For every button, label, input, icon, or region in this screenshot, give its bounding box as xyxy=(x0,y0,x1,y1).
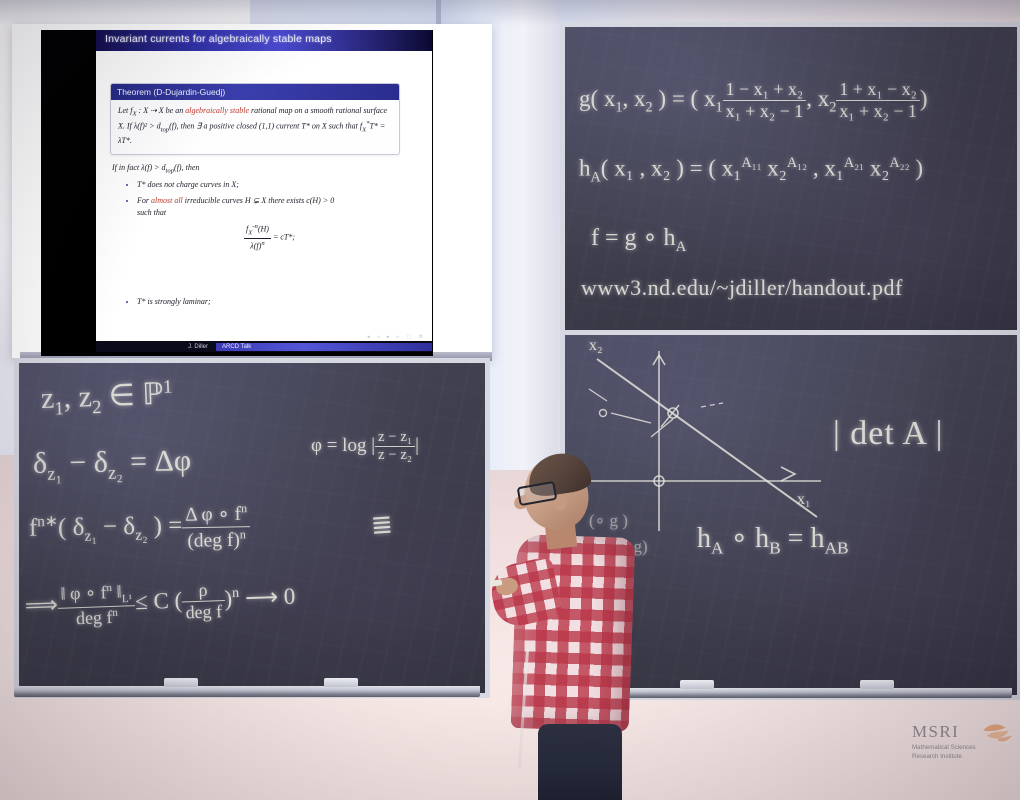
msri-tagline: Mathematical Sciences Research Institute xyxy=(912,744,1012,761)
chalk-l3-num: z − z₁ xyxy=(375,429,415,447)
chalk-r2-sup2: A₁₂ xyxy=(787,155,807,171)
chalk-l4-num-sup: n xyxy=(241,501,247,515)
chalk-comp-sub-c: AB xyxy=(824,539,848,558)
chalk-r1-t1sub: 1 xyxy=(715,99,722,115)
theorem-line1-c: rational map on a xyxy=(249,106,309,115)
chalk-l2-sub-a: z₁ xyxy=(47,463,62,484)
theorem-highlight: algebraically stable xyxy=(185,106,249,115)
theorem-line3-a: closed (1,1) current T* on X such that f xyxy=(236,122,362,131)
chalk-r1-close: ) xyxy=(920,86,928,111)
chalk-l4-c: − δ xyxy=(96,513,135,541)
msri-logo: MSRI Mathematical Sciences Research Inst… xyxy=(912,722,1012,778)
chalk-l3-fraction: z − z₁z − z₂ xyxy=(375,429,415,464)
theorem-line3-sub: X xyxy=(362,127,366,134)
chalk-l5-num-sub: L¹ xyxy=(122,593,133,605)
chalk-r1-comma: , x xyxy=(806,86,829,111)
chalk-comp-sub-b: B xyxy=(769,539,781,558)
tray-clip xyxy=(324,678,358,687)
chalk-l1-sup-c: 1 xyxy=(163,376,173,397)
chalk-l5-den-1: deg fn xyxy=(58,606,136,630)
theorem-line1-b: : X ⇢ X be an xyxy=(137,106,186,115)
slide-footer-talk: ARCD Talk xyxy=(216,343,432,351)
chalk-l4-sub-b: z₁ xyxy=(84,528,97,545)
slide-nav-icons[interactable]: ◂ ◃ ▸ ▹ ⬚ ⟳ xyxy=(367,334,426,340)
left-blackboard: z1, z2 ∈ ℙ1 δz₁ − δz₂ = Δφ φ = log |z − … xyxy=(14,358,490,698)
formula-rhs: = cT*; xyxy=(273,232,295,241)
chalk-r1-f1-num: 1 − x₁ + x₂ xyxy=(723,79,807,101)
condition-sub: top xyxy=(166,168,175,175)
chalk-l4-num-t: Δ φ ∘ f xyxy=(185,504,241,526)
chalk-l4-den-sup: n xyxy=(240,527,246,541)
chalk-r2-lhs: h xyxy=(579,156,591,181)
chalk-line-1: z1, z2 ∈ ℙ1 xyxy=(40,376,173,421)
chalk-l2-b: − δ xyxy=(62,446,109,480)
chalk-l2-a: δ xyxy=(33,447,48,480)
chalk-l4-fraction: Δ φ ∘ fn(deg f)n xyxy=(182,501,251,552)
chalk-right-line-2: hA( x₁ , x₂ ) = ( x₁A₁₁ x₂A₁₂ , x₁A₂₁ x₂… xyxy=(579,155,923,186)
lecture-scene: Invariant currents for algebraically sta… xyxy=(0,0,1020,800)
chalk-comp-h: h xyxy=(697,523,711,554)
chalk-l3-den: z − z₂ xyxy=(375,447,415,464)
butterfly-mark-icon xyxy=(980,720,1014,746)
chalk-r3-text: f = g ∘ h xyxy=(591,225,676,251)
chalk-right-line-3: f = g ∘ hA xyxy=(591,223,686,256)
slide-footer: J. Diller ARCD Talk xyxy=(96,341,432,352)
chalk-det-a: | det A | xyxy=(833,415,943,453)
chalk-r2-close: ) xyxy=(910,156,923,181)
chalk-l5-fraction-1: ‖ φ ∘ fn ‖L¹deg fn xyxy=(57,581,136,629)
chalk-l1-b: , z xyxy=(63,380,92,414)
bullet-2-text-c: such that xyxy=(137,207,402,219)
condition-line: If in fact λ(f) > dtop(f), then xyxy=(112,163,402,175)
theorem-header: Theorem (D-Dujardin-Guedj) xyxy=(111,84,399,100)
chalk-r3-sub: A xyxy=(676,239,687,255)
bullet-1-text: T* does not charge curves in X; xyxy=(137,180,239,189)
chalk-l1-c: ∈ ℙ xyxy=(101,378,164,413)
formula-num-arg: (H) xyxy=(258,225,269,234)
chalk-l5-a: ⟹ xyxy=(24,592,58,618)
bullet-item: T* does not charge curves in X; xyxy=(137,179,402,191)
condition-a: If in fact λ(f) > d xyxy=(112,163,166,172)
chalk-l4-num: Δ φ ∘ fn xyxy=(182,501,251,528)
bullet-list: T* does not charge curves in X; For almo… xyxy=(126,179,402,258)
chalk-r1-sub2: 2 xyxy=(646,99,653,115)
tray-clip xyxy=(860,680,894,689)
chalk-r1-lhs: g( x xyxy=(579,86,615,111)
bullet-2-highlight: almost all xyxy=(151,196,183,205)
chalk-l5-num-t: ‖ φ ∘ f xyxy=(60,582,107,604)
chalk-l3-a: φ = log | xyxy=(311,435,375,456)
chalk-handout-url: www3.nd.edu/~jdiller/handout.pdf xyxy=(581,275,903,301)
chalk-r1-fraction-2: 1 + x₁ − x₂x₁ + x₂ − 1 xyxy=(836,79,920,122)
chalk-line-3: φ = log |z − z₁z − z₂| xyxy=(311,429,419,464)
chalk-axis-x-label: x₁ xyxy=(797,491,811,509)
projected-slide: Invariant currents for algebraically sta… xyxy=(96,30,432,352)
chalk-r2-comma: , x₁ xyxy=(807,156,844,181)
chalk-comp-eq: = h xyxy=(781,523,825,554)
msri-tagline-line2: Research Institute xyxy=(912,753,1012,762)
chalk-r1-t2sub: 2 xyxy=(829,99,836,115)
formula-den-base: λ(f) xyxy=(250,242,261,251)
formula-den-sup: n xyxy=(261,240,264,247)
chalk-r2-v2: x₂ xyxy=(762,156,787,181)
chalk-l1-a: z xyxy=(40,382,54,415)
chalk-l3-b: | xyxy=(415,435,419,456)
theorem-box: Theorem (D-Dujardin-Guedj) Let fX : X ⇢ … xyxy=(110,83,400,155)
chalk-r2-sup4: A₂₂ xyxy=(889,155,909,171)
chalk-r1-f2-den: x₁ + x₂ − 1 xyxy=(836,101,920,122)
bullet-list-last: T* is strongly laminar; xyxy=(126,297,402,306)
chalk-l5-fraction-2: ρdeg f xyxy=(182,579,226,623)
chalk-l5-den-t: deg f xyxy=(76,607,113,628)
chalk-l2-sub-b: z₂ xyxy=(108,462,123,483)
chalk-l4-d: ) = xyxy=(147,512,182,540)
chalk-l5-den-sup: n xyxy=(112,606,118,618)
chalk-l4-den-t: (deg f) xyxy=(187,529,240,551)
speaker xyxy=(498,452,688,800)
chalk-l5-num-2: ρ xyxy=(182,579,225,602)
chalk-composition-law: hA ∘ hB = hAB xyxy=(697,521,849,559)
formula-numerator: fX-n(H) xyxy=(244,222,271,239)
chalk-r2-sup3: A₂₁ xyxy=(844,155,864,171)
chalk-right-line-1: g( x1, x2 ) = ( x11 − x₁ + x₂x₁ + x₂ − 1… xyxy=(579,79,928,122)
chalk-line-5: ⟹‖ φ ∘ fn ‖L¹deg fn≤ C (ρdeg f)n ⟶ 0 xyxy=(24,576,296,631)
centered-formula: fX-n(H) λ(f)n = cT*; xyxy=(137,222,402,253)
chalk-line-2: δz₁ − δz₂ = Δφ xyxy=(33,444,192,486)
chalk-comp-sub-a: A xyxy=(711,539,724,558)
theorem-line2-b: (f), then ∃ a positive xyxy=(169,122,234,131)
bullet-2-text-a: For xyxy=(137,196,151,205)
chalk-l5-b: ≤ C ( xyxy=(135,588,183,615)
chalk-l5-d: ⟶ 0 xyxy=(239,584,296,611)
tray-clip xyxy=(164,678,198,687)
chalk-comp-mid: ∘ h xyxy=(724,523,770,554)
chalk-r1-f2-num: 1 + x₁ − x₂ xyxy=(836,79,920,101)
formula-denominator: λ(f)n xyxy=(244,239,271,253)
theorem-statement: Let fX : X ⇢ X be an algebraically stabl… xyxy=(111,100,399,154)
chalk-l5-den-2: deg f xyxy=(182,601,225,623)
slide-title: Invariant currents for algebraically sta… xyxy=(105,33,332,45)
bullet-item: For almost all irreducible curves H ⊊ X … xyxy=(137,195,402,253)
theorem-line1-a: Let f xyxy=(118,106,132,115)
chalk-axis-y-label: x₂ xyxy=(589,337,603,355)
chalk-line-4: fn∗( δz₁ − δz₂ ) =Δ φ ∘ fn(deg f)n xyxy=(29,501,251,555)
chalk-r2-sup1: A₁₁ xyxy=(741,155,761,171)
chalk-r1-sub1: 1 xyxy=(615,99,622,115)
chalk-l4-sub-c: z₂ xyxy=(135,527,148,544)
formula-num-sub: X xyxy=(248,229,252,236)
bullet-item: T* is strongly laminar; xyxy=(137,297,402,306)
chalk-r1-fraction-1: 1 − x₁ + x₂x₁ + x₂ − 1 xyxy=(723,79,807,122)
chalk-r1-end: ) = ( x xyxy=(653,86,716,111)
chalk-r1-f1-den: x₁ + x₂ − 1 xyxy=(723,101,807,122)
chalk-hatch-marks: ≣ xyxy=(370,510,392,541)
left-board-chalk-tray xyxy=(14,686,480,697)
slide-footer-author: J. Diller xyxy=(188,344,208,350)
chalk-l2-c: = Δφ xyxy=(122,444,191,478)
chalk-r2-args: ( x₁ , x₂ ) = ( x₁ xyxy=(601,156,742,181)
bullet-2-text-b: irreducible curves H ⊊ X there exists c(… xyxy=(183,196,334,205)
right-blackboard-upper: g( x1, x2 ) = ( x11 − x₁ + x₂x₁ + x₂ − 1… xyxy=(560,22,1020,337)
chalk-l5-num-1: ‖ φ ∘ fn ‖L¹ xyxy=(57,581,135,608)
theorem-line2-sub: top xyxy=(161,127,170,134)
chalk-l4-b: ( δ xyxy=(58,514,85,541)
chalk-l4-den: (deg f)n xyxy=(182,527,251,553)
slide-body: Theorem (D-Dujardin-Guedj) Let fX : X ⇢ … xyxy=(96,51,432,335)
formula-fraction: fX-n(H) λ(f)n xyxy=(244,222,271,253)
chalk-r2-v4: x₂ xyxy=(864,156,889,181)
speaker-trousers xyxy=(538,724,622,800)
chalk-l5-num-b: ‖ xyxy=(112,582,122,602)
chalk-r2-sub: A xyxy=(591,169,601,185)
chalk-r1-mid: , x xyxy=(623,86,646,111)
condition-b: (f), then xyxy=(174,163,199,172)
chalk-l4-sup-a: n∗ xyxy=(37,513,58,530)
